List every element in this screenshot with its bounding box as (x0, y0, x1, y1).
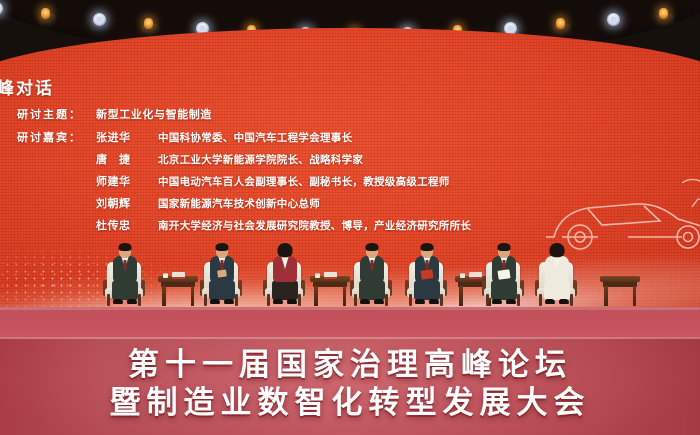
shoe (210, 299, 220, 304)
topic-value: 新型工业化与智能制造 (96, 106, 212, 122)
guest-title: 中国科协常委、中国汽车工程学会理事长 (158, 130, 352, 145)
banner-line-1: 第十一届国家治理高峰论坛 (0, 339, 700, 382)
panelist-panelist (268, 244, 302, 306)
table-leg (191, 286, 195, 306)
table-leg (459, 286, 463, 306)
panel-seating-row (0, 224, 700, 320)
guest-row-2: 唐 捷 北京工业大学新能源学院院长、战略科学家 (0, 151, 620, 167)
panelist-hair (119, 243, 132, 251)
name-placard (172, 272, 185, 279)
shoe (127, 299, 137, 304)
gesturing-hands (217, 269, 227, 277)
panelist-hair (216, 243, 229, 251)
shoe (545, 299, 555, 304)
shoe (415, 299, 425, 304)
panelist-legs (112, 280, 138, 300)
name-placard (324, 272, 337, 279)
table-leg (343, 286, 347, 306)
necktie (503, 260, 506, 270)
table-leg (162, 286, 166, 306)
panelist-legs (414, 280, 440, 300)
shoe (506, 299, 516, 304)
panelist-legs (272, 280, 298, 300)
shoe (273, 299, 283, 304)
held-document (420, 269, 433, 280)
shoe (429, 299, 439, 304)
panelist-hair (421, 243, 434, 251)
teacup (163, 273, 168, 278)
name-placard (469, 272, 482, 279)
event-title-banner: 第十一届国家治理高峰论坛 暨制造业数智化转型发展大会 (0, 337, 700, 435)
panelist-hair (278, 243, 293, 257)
table-leg (633, 286, 637, 306)
panelist-host (540, 244, 574, 306)
guest-row-1: 研讨嘉宾： 张进华 中国科协常委、中国汽车工程学会理事长 (0, 129, 620, 145)
guests-label: 研讨嘉宾： (0, 129, 82, 145)
session-info-block: 高峰对话 研讨主题： 新型工业化与智能制造 研讨嘉宾： 张进华 中国科协常委、中… (0, 74, 620, 233)
shoe (224, 299, 234, 304)
guest-title: 国家新能源汽车技术创新中心总师 (158, 196, 320, 211)
panelist-legs (209, 280, 235, 300)
table-leg (314, 286, 318, 306)
side-table (600, 276, 640, 306)
guest-title: 北京工业大学新能源学院院长、战略科学家 (158, 152, 363, 167)
topic-label: 研讨主题： (0, 106, 82, 122)
panelist-legs (544, 280, 570, 300)
shoe (360, 299, 370, 304)
guest-name: 唐 捷 (96, 151, 158, 167)
guest-row-4: 刘朝辉 国家新能源汽车技术创新中心总师 (0, 195, 620, 211)
held-document (497, 269, 510, 280)
panelist-panelist (205, 244, 239, 306)
panelist-hair (366, 243, 379, 251)
shoe (374, 299, 384, 304)
stage-photo: 高峰对话 研讨主题： 新型工业化与智能制造 研讨嘉宾： 张进华 中国科协常委、中… (0, 0, 700, 435)
stage-light-amber-icon (41, 8, 50, 19)
teacup (315, 273, 320, 278)
necktie (221, 260, 224, 270)
side-table (310, 276, 350, 306)
necktie (371, 260, 374, 270)
guest-row-3: 师建华 中国电动汽车百人会副理事长、副秘书长，教授级高级工程师 (0, 173, 620, 189)
shoe (287, 299, 297, 304)
shoe (492, 299, 502, 304)
guest-title: 中国电动汽车百人会副理事长、副秘书长，教授级高级工程师 (158, 174, 450, 189)
table-leg (604, 286, 608, 306)
session-title: 高峰对话 (0, 74, 620, 99)
guest-name: 师建华 (96, 173, 158, 189)
stage-light-amber-icon (659, 8, 668, 19)
topic-row: 研讨主题： 新型工业化与智能制造 (0, 106, 620, 122)
side-table (158, 276, 198, 306)
panelist-panelist (410, 244, 444, 306)
panelist-legs (491, 280, 517, 300)
panelist-hair (498, 243, 511, 251)
guest-name: 张进华 (96, 129, 158, 145)
banner-line-2: 暨制造业数智化转型发展大会 (0, 382, 700, 420)
panelist-legs (359, 280, 385, 300)
panelist-moderator (108, 244, 142, 306)
panelist-panelist (487, 244, 521, 306)
necktie (426, 260, 429, 270)
panelist-hair (550, 243, 565, 257)
shoe (113, 299, 123, 304)
panelist-panelist (355, 244, 389, 306)
shoe (559, 299, 569, 304)
necktie (124, 260, 127, 270)
guest-name: 刘朝辉 (96, 195, 158, 211)
teacup (460, 273, 465, 278)
